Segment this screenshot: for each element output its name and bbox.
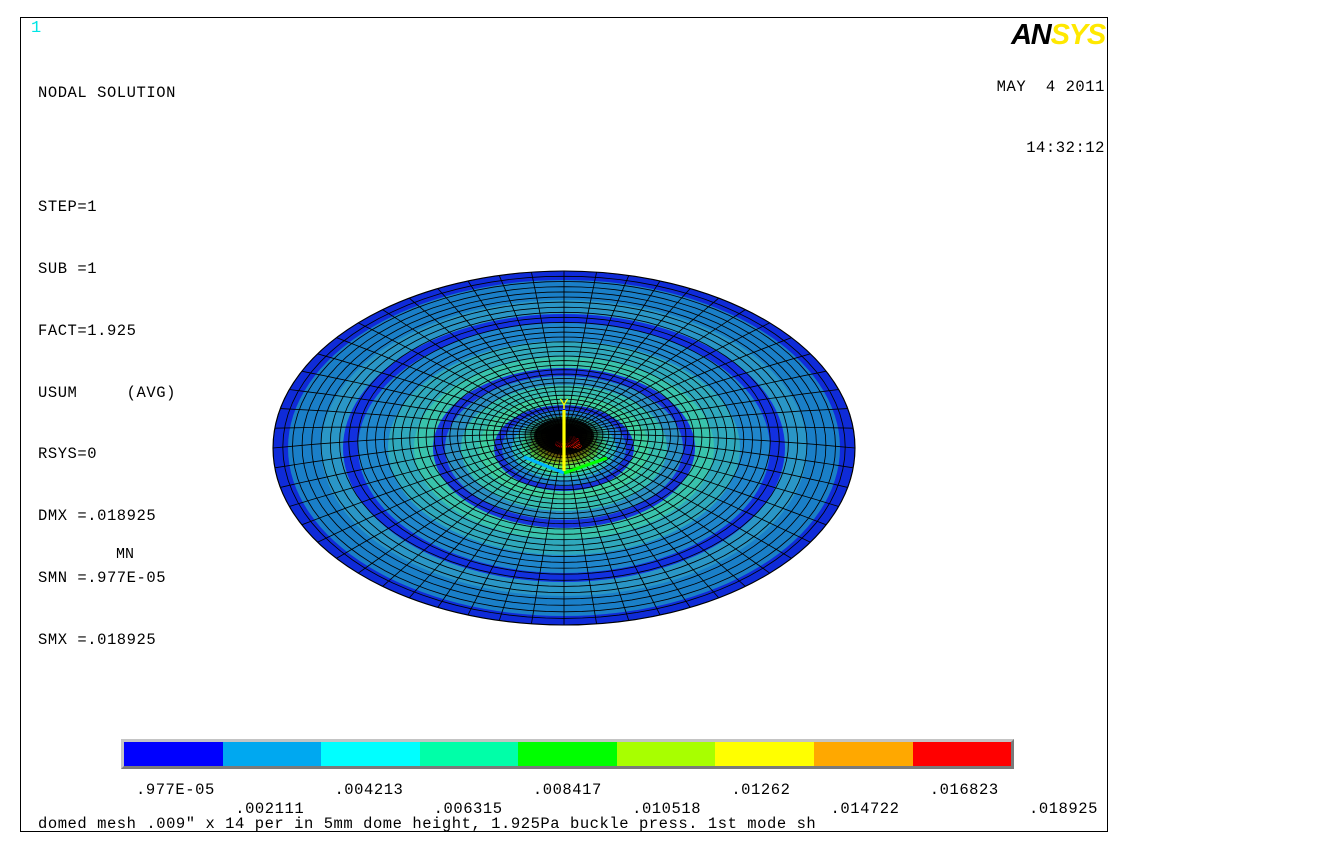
colorbar-tick-label-7: .014722 <box>831 800 900 819</box>
ansys-logo: ANSYS <box>1011 20 1105 50</box>
colorbar-tick-labels: .977E-05.002111.004213.006315.008417.010… <box>21 751 1107 801</box>
triad-y-label: Y <box>559 397 568 414</box>
min-marker-label: MN <box>116 546 134 563</box>
colorbar-tick-label-2: .004213 <box>334 781 403 800</box>
header-line-step: STEP=1 <box>38 197 176 218</box>
plot-caption: domed mesh .009" x 14 per in 5mm dome he… <box>38 814 816 834</box>
datetime-block: MAY 4 2011 14:32:12 <box>938 56 1105 180</box>
ansys-screenshot: 1 ANSYS MAY 4 2011 14:32:12 NODAL SOLUTI… <box>0 0 1336 857</box>
ansys-logo-sys: SYS <box>1051 19 1105 51</box>
colorbar-tick-label-4: .008417 <box>533 781 602 800</box>
dome-plot: Y MN <box>21 243 1107 653</box>
colorbar-tick-label-6: .01262 <box>731 781 790 800</box>
graphics-window: 1 ANSYS MAY 4 2011 14:32:12 NODAL SOLUTI… <box>20 17 1108 832</box>
ansys-logo-an: AN <box>1011 19 1051 51</box>
dome-mesh-svg: Y MN <box>21 243 1107 653</box>
colorbar-tick-label-8: .016823 <box>930 781 999 800</box>
colorbar-tick-label-0: .977E-05 <box>136 781 215 800</box>
date-label: MAY 4 2011 <box>997 78 1105 96</box>
window-number-label: 1 <box>31 20 41 37</box>
header-spacer <box>38 145 176 156</box>
time-label: 14:32:12 <box>1026 139 1105 157</box>
solution-title: NODAL SOLUTION <box>38 83 176 104</box>
colorbar-tick-label-9: .018925 <box>1029 800 1098 819</box>
